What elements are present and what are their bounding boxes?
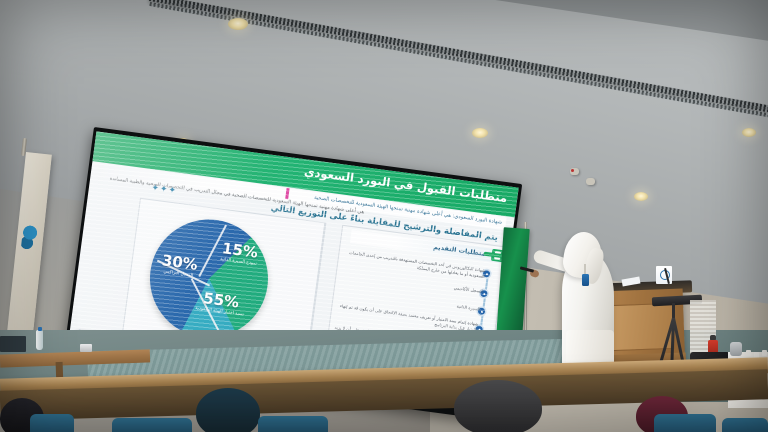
- tripod-column: [672, 303, 675, 319]
- ceiling-downlight-icon: [742, 128, 756, 137]
- paper-cup: [80, 344, 92, 352]
- equipment-box: [0, 336, 26, 352]
- sparkle-stars-icon: ✦✦✦: [151, 183, 178, 196]
- id-badge-icon: [582, 274, 589, 286]
- smoke-sensor-icon: [570, 168, 579, 175]
- ceiling-downlight-icon: [634, 192, 648, 201]
- audience-seat: [654, 414, 716, 432]
- audience-head: [196, 388, 260, 432]
- small-cup: [762, 350, 767, 356]
- small-cup: [746, 350, 751, 356]
- audience-seat: [258, 416, 328, 432]
- coffee-urn-icon: [730, 342, 742, 356]
- ceiling-downlight-icon: [228, 18, 248, 30]
- banner-logo-icon: [21, 224, 39, 251]
- water-bottle: [36, 330, 43, 350]
- conference-hall-screenshot: متطلبات القبول في البورد السعودي شهادة ا…: [0, 0, 768, 432]
- audience-head: [454, 380, 542, 432]
- audience-seat: [30, 414, 74, 432]
- audience-seat: [722, 418, 768, 432]
- smoke-sensor-icon: [586, 178, 595, 185]
- audience-seat: [112, 418, 192, 432]
- ceiling-downlight-icon: [472, 128, 488, 138]
